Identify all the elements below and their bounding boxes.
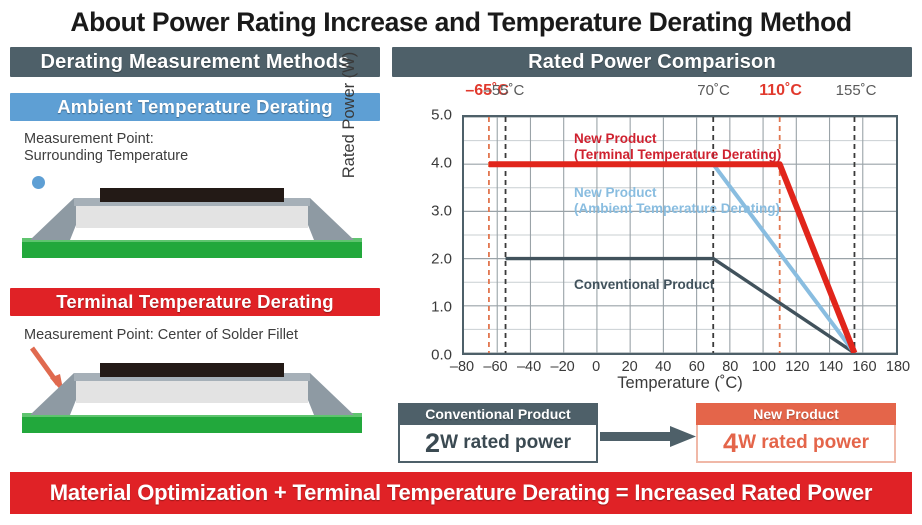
- x-tick-label: 180: [886, 359, 910, 375]
- y-tick-label: 3.0: [390, 203, 452, 220]
- series-label-conventional: Conventional Product: [574, 277, 714, 293]
- new-product-header: New Product: [696, 403, 896, 425]
- y-tick-label: 0.0: [390, 347, 452, 364]
- x-tick-label: 40: [655, 359, 671, 375]
- x-axis-title: Temperature (˚C): [462, 374, 898, 393]
- ambient-component-diagram: [22, 180, 362, 262]
- x-tick-label: –20: [551, 359, 575, 375]
- right-arrow-icon: [600, 424, 696, 448]
- y-tick-label: 4.0: [390, 155, 452, 172]
- new-rated-power-number: 4: [723, 430, 738, 457]
- page-title: About Power Rating Increase and Temperat…: [0, 2, 922, 42]
- left-panel-header: Derating Measurement Methods: [10, 47, 380, 77]
- new-product-value: 4 W rated power: [696, 425, 896, 463]
- temperature-marker-label: 70˚C: [697, 82, 730, 99]
- conventional-product-box: Conventional Product 2 W rated power: [398, 403, 598, 463]
- conventional-product-header: Conventional Product: [398, 403, 598, 425]
- conventional-rated-power-unit: W rated power: [440, 432, 571, 454]
- y-tick-label: 1.0: [390, 299, 452, 316]
- new-rated-power-unit: W rated power: [738, 432, 869, 454]
- x-tick-label: 60: [689, 359, 705, 375]
- terminal-component-diagram: [22, 355, 362, 437]
- x-tick-label: 80: [722, 359, 738, 375]
- plot-area: New Product (Terminal Temperature Derati…: [462, 115, 898, 355]
- x-tick-label: 20: [622, 359, 638, 375]
- temperature-marker-label: 110˚C: [759, 82, 802, 100]
- x-tick-label: –60: [483, 359, 507, 375]
- ambient-measurement-note: Measurement Point: Surrounding Temperatu…: [24, 131, 188, 165]
- y-axis-title: Rated Power (W): [340, 0, 359, 235]
- series-label-new-terminal: New Product (Terminal Temperature Derati…: [574, 131, 781, 162]
- ambient-derating-header: Ambient Temperature Derating: [10, 93, 380, 121]
- bottom-banner: Material Optimization + Terminal Tempera…: [10, 472, 912, 514]
- x-tick-label: –40: [517, 359, 541, 375]
- terminal-derating-header: Terminal Temperature Derating: [10, 288, 380, 316]
- y-tick-label: 5.0: [390, 107, 452, 124]
- x-tick-label: 140: [819, 359, 843, 375]
- terminal-measurement-note: Measurement Point: Center of Solder Fill…: [24, 327, 298, 344]
- conventional-product-value: 2 W rated power: [398, 425, 598, 463]
- right-panel-header: Rated Power Comparison: [392, 47, 912, 77]
- series-label-new-ambient: New Product (Ambient Temperature Deratin…: [574, 185, 780, 216]
- temperature-marker-label: –55˚C: [483, 82, 524, 99]
- x-tick-label: –80: [450, 359, 474, 375]
- x-tick-label: 160: [852, 359, 876, 375]
- y-tick-label: 2.0: [390, 251, 452, 268]
- new-product-box: New Product 4 W rated power: [696, 403, 896, 463]
- x-tick-label: 100: [752, 359, 776, 375]
- rated-power-chart: –65˚C–55˚C70˚C110˚C155˚C Rated Power (W)…: [392, 82, 912, 392]
- temperature-marker-label: 155˚C: [836, 82, 877, 99]
- conventional-rated-power-number: 2: [425, 430, 440, 457]
- x-tick-label: 0: [592, 359, 600, 375]
- x-tick-label: 120: [785, 359, 809, 375]
